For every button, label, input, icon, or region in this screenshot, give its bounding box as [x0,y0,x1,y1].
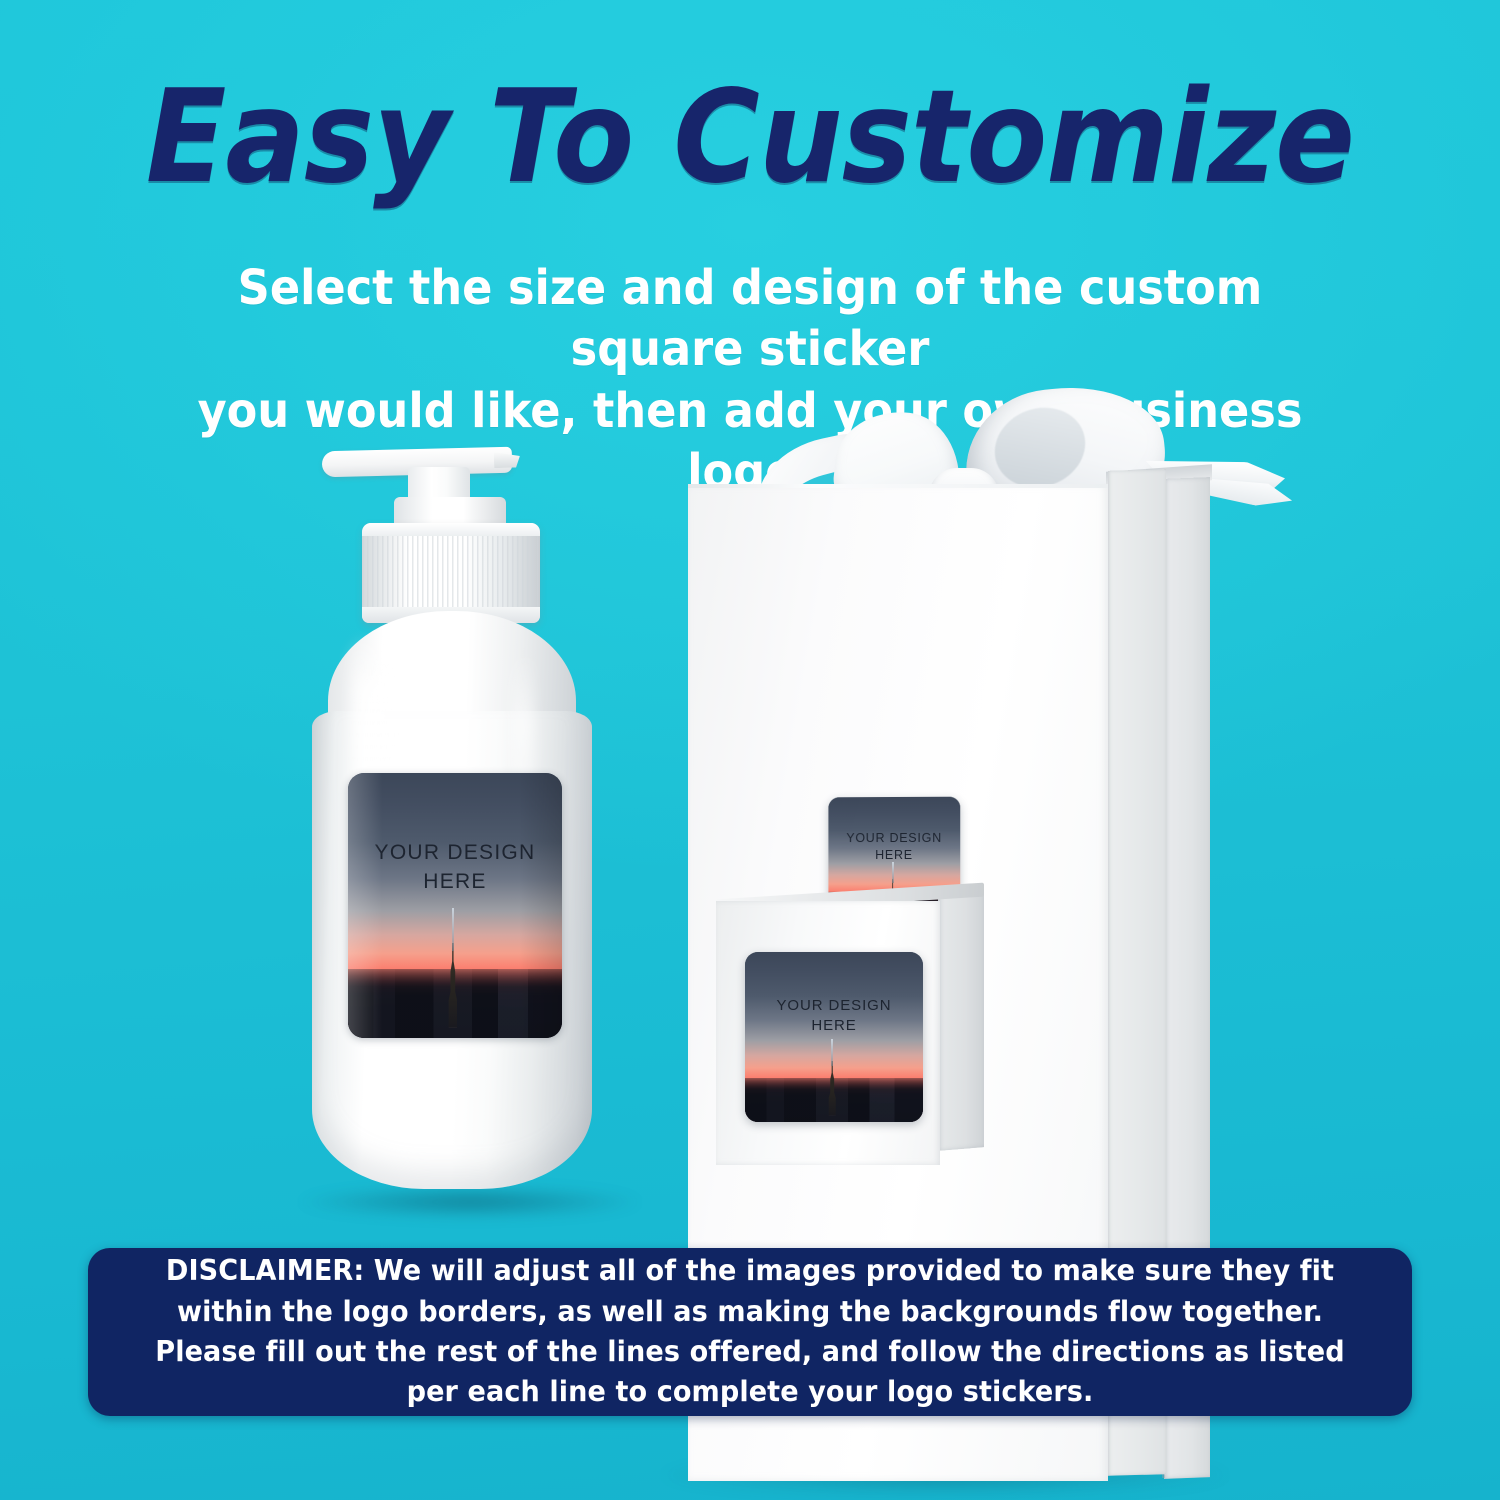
subtitle-line-1: Select the size and design of the custom… [155,258,1345,381]
sticker-text-line-1: YOUR DESIGN [348,839,562,867]
sticker-spire [831,1039,833,1066]
page-title: Easy To Customize [60,74,1440,202]
sticker-spire [452,908,454,950]
sticker-text-line-2: HERE [828,847,960,864]
sticker-placeholder-text: YOUR DESIGN HERE [348,839,562,896]
sticker-placeholder-text: YOUR DESIGN HERE [828,830,960,864]
sticker-text-line-2: HERE [348,868,562,896]
product-mockup-scene: YOUR DESIGN HERE YOUR DESIGN HERE [0,395,1500,1240]
bottle-cap [362,523,540,623]
disclaimer-banner: DISCLAIMER: We will adjust all of the im… [88,1248,1412,1416]
sticker-text-line-2: HERE [745,1016,923,1036]
poster-canvas: Easy To Customize Select the size and de… [0,0,1500,1500]
disclaimer-label: DISCLAIMER: [166,1254,364,1287]
pump-bottle: YOUR DESIGN HERE [300,415,636,1215]
disclaimer-text: DISCLAIMER: We will adjust all of the im… [153,1251,1346,1413]
sticker-text-line-1: YOUR DESIGN [745,996,923,1016]
product-box-side-panel [938,889,984,1151]
sticker-placeholder-text: YOUR DESIGN HERE [745,996,923,1037]
sticker-on-bottle[interactable]: YOUR DESIGN HERE [348,773,562,1038]
sticker-text-line-1: YOUR DESIGN [828,830,960,847]
product-box: YOUR DESIGN HERE [716,895,984,1165]
sticker-spire [892,862,894,882]
sticker-on-product-box[interactable]: YOUR DESIGN HERE [745,952,923,1122]
